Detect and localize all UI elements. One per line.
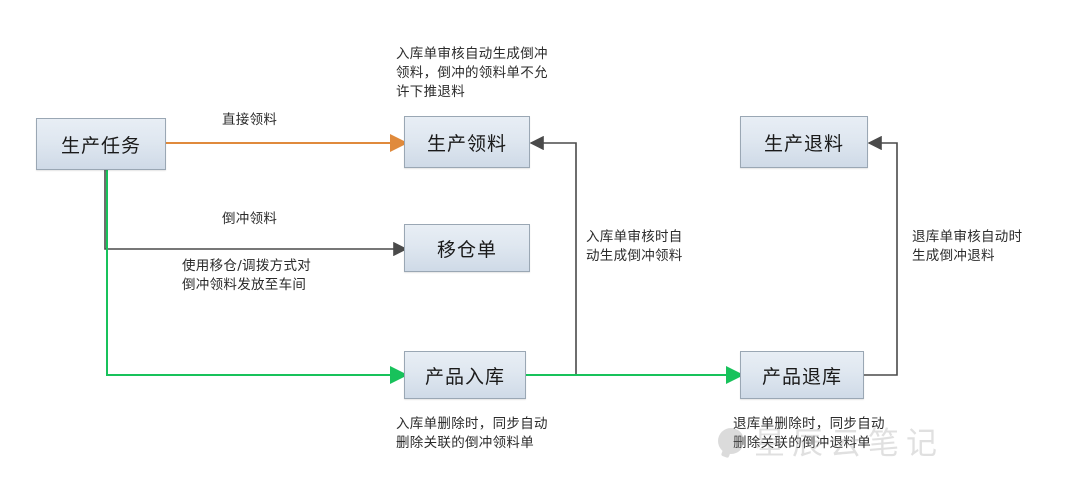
node-product-receipt[interactable]: 产品入库	[404, 351, 526, 399]
node-production-task-label: 生产任务	[61, 131, 141, 158]
edge-label-backflush-issue: 倒冲领料	[222, 210, 277, 229]
note-return-delete-sync: 退库单删除时，同步自动 删除关联的倒冲退料单	[733, 415, 885, 453]
diagram-canvas: 生产任务 生产领料 移仓单 产品入库 生产退料 产品退库 直接领料 倒冲领料 入…	[0, 0, 1080, 483]
node-production-issue[interactable]: 生产领料	[404, 116, 530, 168]
note-transfer-method: 使用移仓/调拨方式对 倒冲领料发放至车间	[182, 257, 311, 295]
node-product-return-label: 产品退库	[762, 362, 842, 389]
node-production-task[interactable]: 生产任务	[36, 118, 166, 170]
note-return-audit-backflush: 退库单审核自动时 生成倒冲退料	[912, 228, 1022, 266]
node-transfer-order[interactable]: 移仓单	[404, 224, 530, 272]
edge-label-direct-issue: 直接领料	[222, 111, 277, 130]
edge-product-return-to-production-return	[862, 143, 897, 375]
note-receipt-audit-autocreate: 入库单审核自动生成倒冲 领料，倒冲的领料单不允 许下推退料	[396, 45, 548, 102]
note-receipt-delete-sync: 入库单删除时，同步自动 删除关联的倒冲领料单	[396, 415, 548, 453]
node-transfer-order-label: 移仓单	[437, 235, 497, 262]
node-production-return[interactable]: 生产退料	[740, 116, 868, 168]
node-product-return[interactable]: 产品退库	[740, 351, 864, 399]
note-receipt-audit-backflush: 入库单审核时自 动生成倒冲领料	[586, 228, 683, 266]
node-product-receipt-label: 产品入库	[425, 362, 505, 389]
node-production-return-label: 生产退料	[764, 129, 844, 156]
node-production-issue-label: 生产领料	[427, 129, 507, 156]
edge-receipt-to-issue	[524, 143, 576, 375]
